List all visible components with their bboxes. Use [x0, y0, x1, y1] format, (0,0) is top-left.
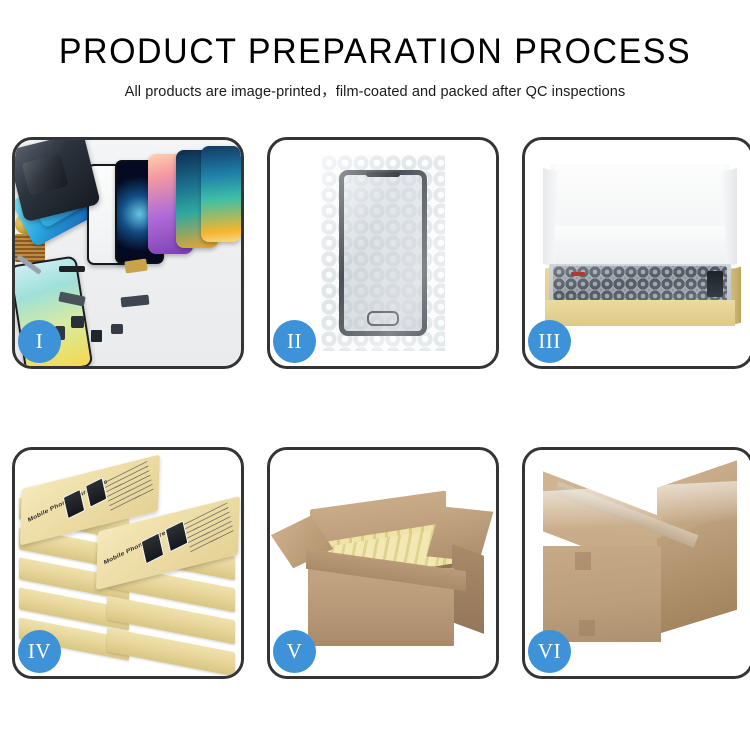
small-chip-2-icon [91, 330, 102, 342]
small-chip-1-icon [71, 316, 84, 328]
carton-handle-tab-2 [579, 620, 595, 636]
home-button-icon [367, 311, 399, 326]
process-step-panel-5: V [267, 447, 499, 679]
box-label-spec-lines [184, 502, 234, 555]
earpiece-part-icon [59, 266, 85, 272]
product-preparation-page: PRODUCT PREPARATION PROCESS All products… [0, 0, 750, 750]
open-carton [284, 488, 484, 648]
process-step-panel-2: II [267, 137, 499, 369]
page-subtitle: All products are image-printed，film-coat… [0, 80, 750, 101]
process-step-panel-4: Mobile Phone Spare Parts Mobile Phone Sp… [12, 447, 244, 679]
flex-cable-1-icon [124, 259, 147, 274]
carton-front-face-sealed [543, 546, 661, 642]
carton-handle-tab-1 [575, 552, 591, 570]
step-badge-3: III [528, 320, 571, 363]
orange-gradient-screen-icon [201, 146, 241, 242]
page-title: PRODUCT PREPARATION PROCESS [11, 34, 739, 71]
step-badge-5: V [273, 630, 316, 673]
page-header: PRODUCT PREPARATION PROCESS All products… [0, 0, 750, 101]
bubble-wrap-sheet [321, 155, 445, 351]
step-badge-1: I [18, 320, 61, 363]
process-step-grid: I II [12, 137, 738, 679]
red-marker-label [571, 272, 585, 276]
process-step-panel-3: III [522, 137, 750, 369]
process-step-panel-6: VI [522, 447, 750, 679]
process-step-panel-1: I [12, 137, 244, 369]
step-badge-2: II [273, 320, 316, 363]
kraft-box-front-face [545, 300, 735, 326]
wrapped-screen-outline [339, 170, 427, 336]
step-badge-4: IV [18, 630, 61, 673]
flex-cable-3-icon [121, 295, 150, 308]
wrapped-screen-in-box [553, 266, 727, 302]
box-label-spec-lines-2 [104, 461, 154, 514]
step-badge-6: VI [528, 630, 571, 673]
small-chip-3-icon [111, 324, 123, 334]
sealed-carton [539, 480, 743, 654]
